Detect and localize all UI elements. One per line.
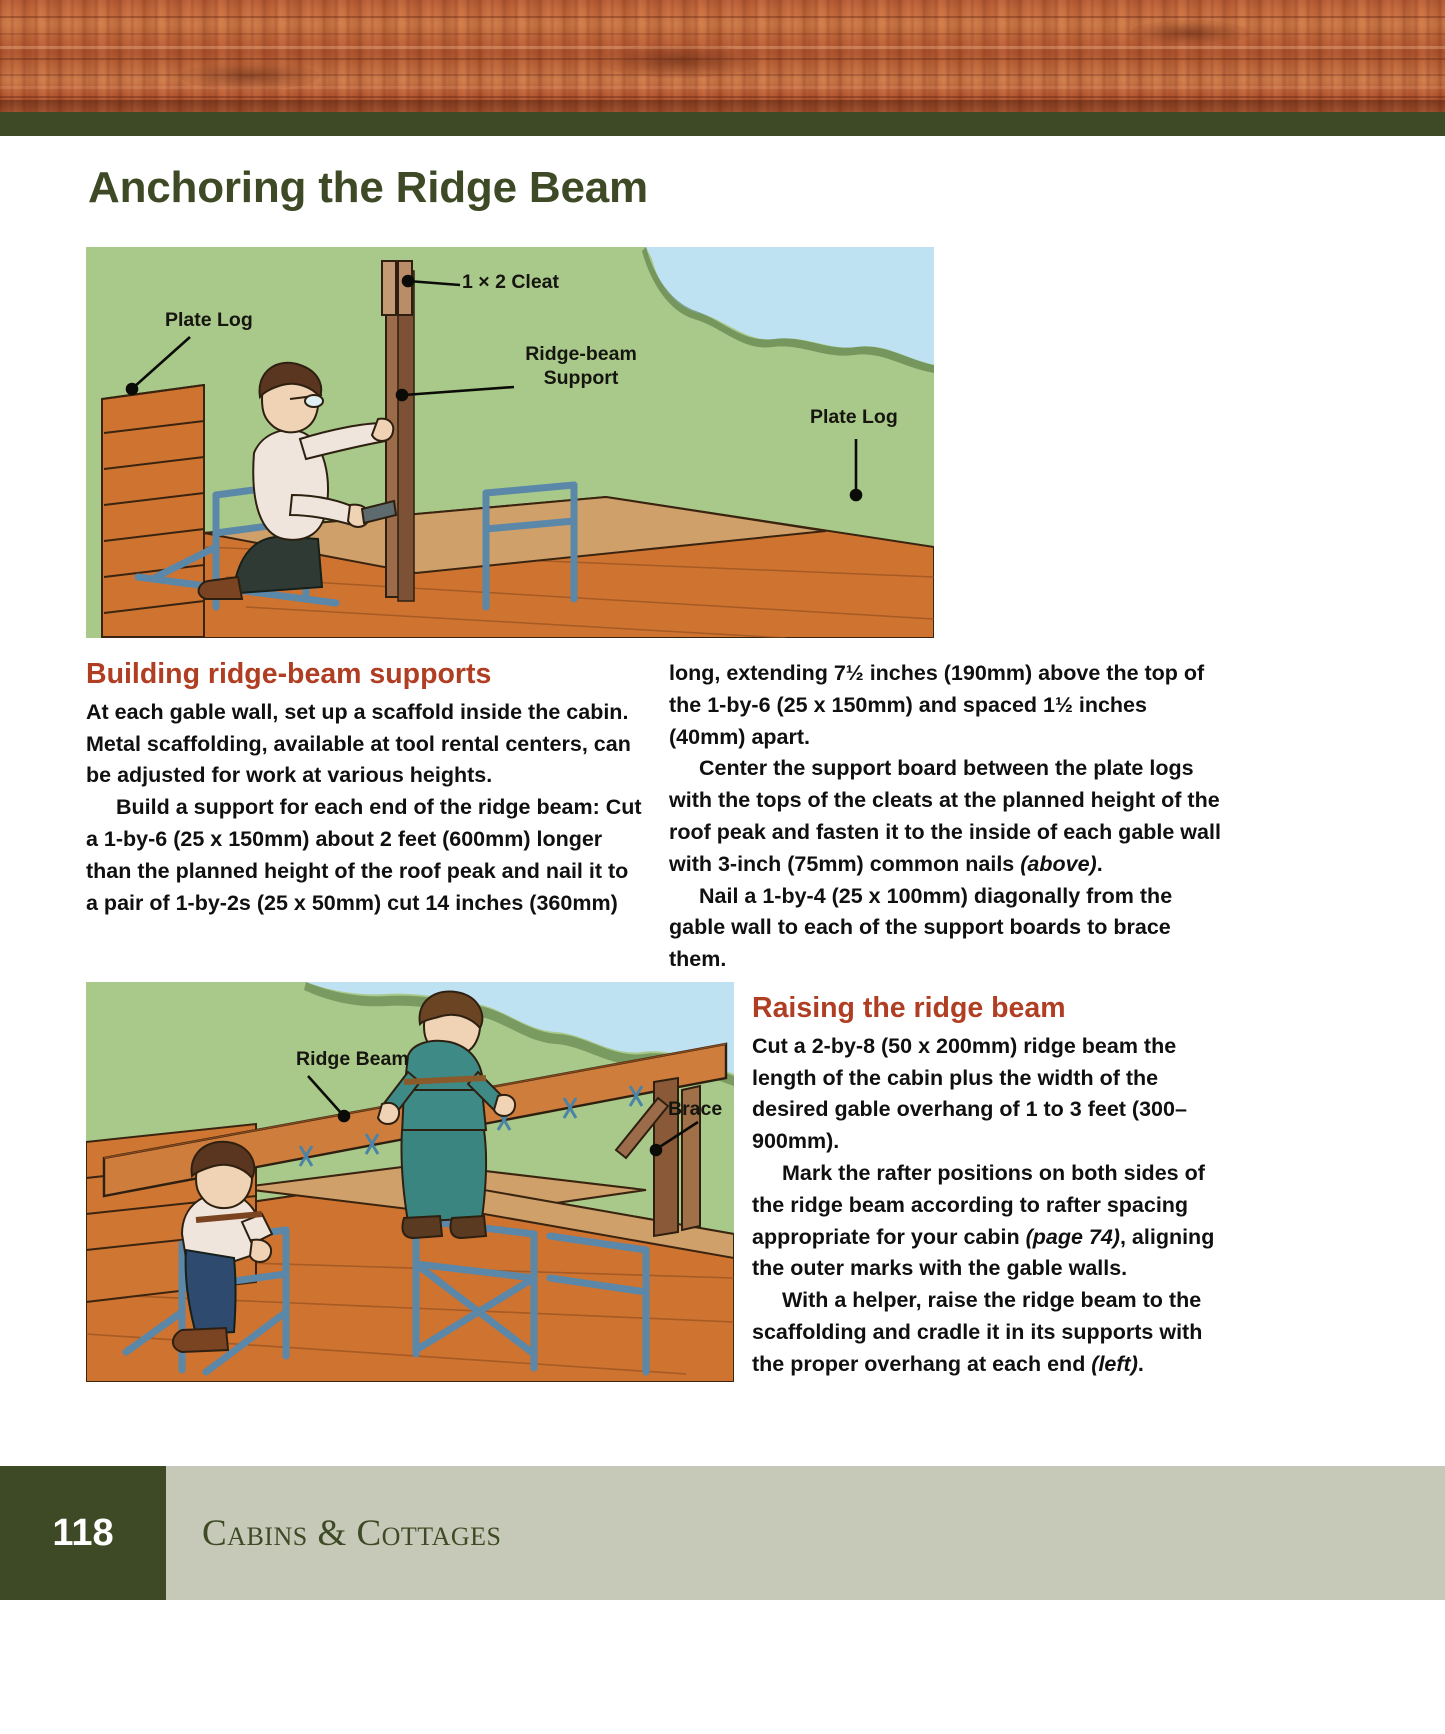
wood-knot-icon <box>1130 20 1250 46</box>
paragraph: Cut a 2-by-8 (50 x 200mm) ridge beam the… <box>752 1031 1227 1158</box>
column-left: Building ridge-beam supports At each gab… <box>86 658 642 919</box>
callout-ridge-beam-support-line2: Support <box>544 367 619 389</box>
callout-ridge-beam-support-line1: Ridge-beam <box>525 343 637 365</box>
raising-ridge-beam-illustration: Ridge Beam Brace <box>86 982 734 1382</box>
column-raising-ridge-beam: Raising the ridge beam Cut a 2-by-8 (50 … <box>752 992 1227 1381</box>
page-title: Anchoring the Ridge Beam <box>88 163 648 213</box>
book-title: Cabins & Cottages <box>202 1466 502 1600</box>
callout-ridge-beam: Ridge Beam <box>296 1048 409 1072</box>
header-green-bar <box>0 112 1445 136</box>
page-header-banner <box>0 0 1445 136</box>
footer-white-space <box>0 1600 1445 1734</box>
paragraph: At each gable wall, set up a scaffold in… <box>86 697 642 792</box>
ridge-beam-support-illustration: 1 × 2 Cleat Plate Log Ridge-beam Support… <box>86 247 934 638</box>
paragraph: long, extending 7½ inches (190mm) above … <box>669 658 1225 753</box>
column-right: long, extending 7½ inches (190mm) above … <box>669 658 1225 976</box>
paragraph: Nail a 1-by-4 (25 x 100mm) diagonally fr… <box>669 881 1225 976</box>
paragraph: Center the support board between the pla… <box>669 753 1225 880</box>
callout-plate-log-right: Plate Log <box>810 406 898 430</box>
illustration-top-svg <box>86 247 934 638</box>
paragraph: Build a support for each end of the ridg… <box>86 792 642 919</box>
paragraph: Mark the rafter positions on both sides … <box>752 1158 1227 1285</box>
section-heading-building-supports: Building ridge-beam supports <box>86 658 642 691</box>
section-heading-raising-ridge-beam: Raising the ridge beam <box>752 992 1227 1025</box>
wood-knot-icon <box>600 44 760 78</box>
illustration-bottom-svg <box>86 982 734 1382</box>
page-number: 118 <box>0 1466 166 1600</box>
paragraph: With a helper, raise the ridge beam to t… <box>752 1285 1227 1380</box>
wood-grain-strip <box>0 0 1445 112</box>
callout-brace: Brace <box>668 1098 722 1122</box>
callout-ridge-beam-support: Ridge-beam Support <box>516 343 646 391</box>
callout-plate-log-left: Plate Log <box>165 309 253 333</box>
wood-knot-icon <box>180 62 320 90</box>
callout-cleat: 1 × 2 Cleat <box>462 271 559 295</box>
